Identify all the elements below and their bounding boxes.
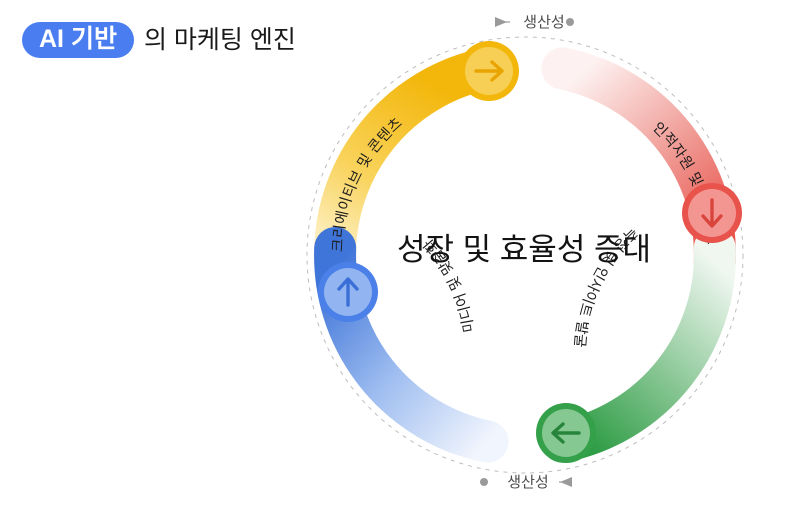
diagram-canvas: AI 기반 의 마케팅 엔진 [0,0,794,513]
axis-marker-top: 생산성 [495,14,574,31]
axis-label-bottom: 생산성 [507,474,548,491]
segment-badge-measure-insight[interactable] [536,403,596,463]
axis-arrow-top-icon [495,17,507,27]
axis-marker-bottom: 생산성 [480,474,572,491]
segment-badge-creative[interactable] [459,41,519,101]
axis-arrow-bottom-icon [560,477,572,487]
axis-dot-top [566,18,574,26]
segment-badge-people-process[interactable] [682,183,742,243]
axis-dot-bottom [480,478,488,486]
axis-label-top: 생산성 [523,14,564,31]
center-label: 성장 및 효율성 증대 [397,232,651,267]
cycle-diagram: 크리에이티브 및 콘텐츠 인적자원 및 프로세스 측정 및 인사이트 발굴 미디… [0,0,794,513]
segment-badge-media-personalization[interactable] [318,262,378,322]
